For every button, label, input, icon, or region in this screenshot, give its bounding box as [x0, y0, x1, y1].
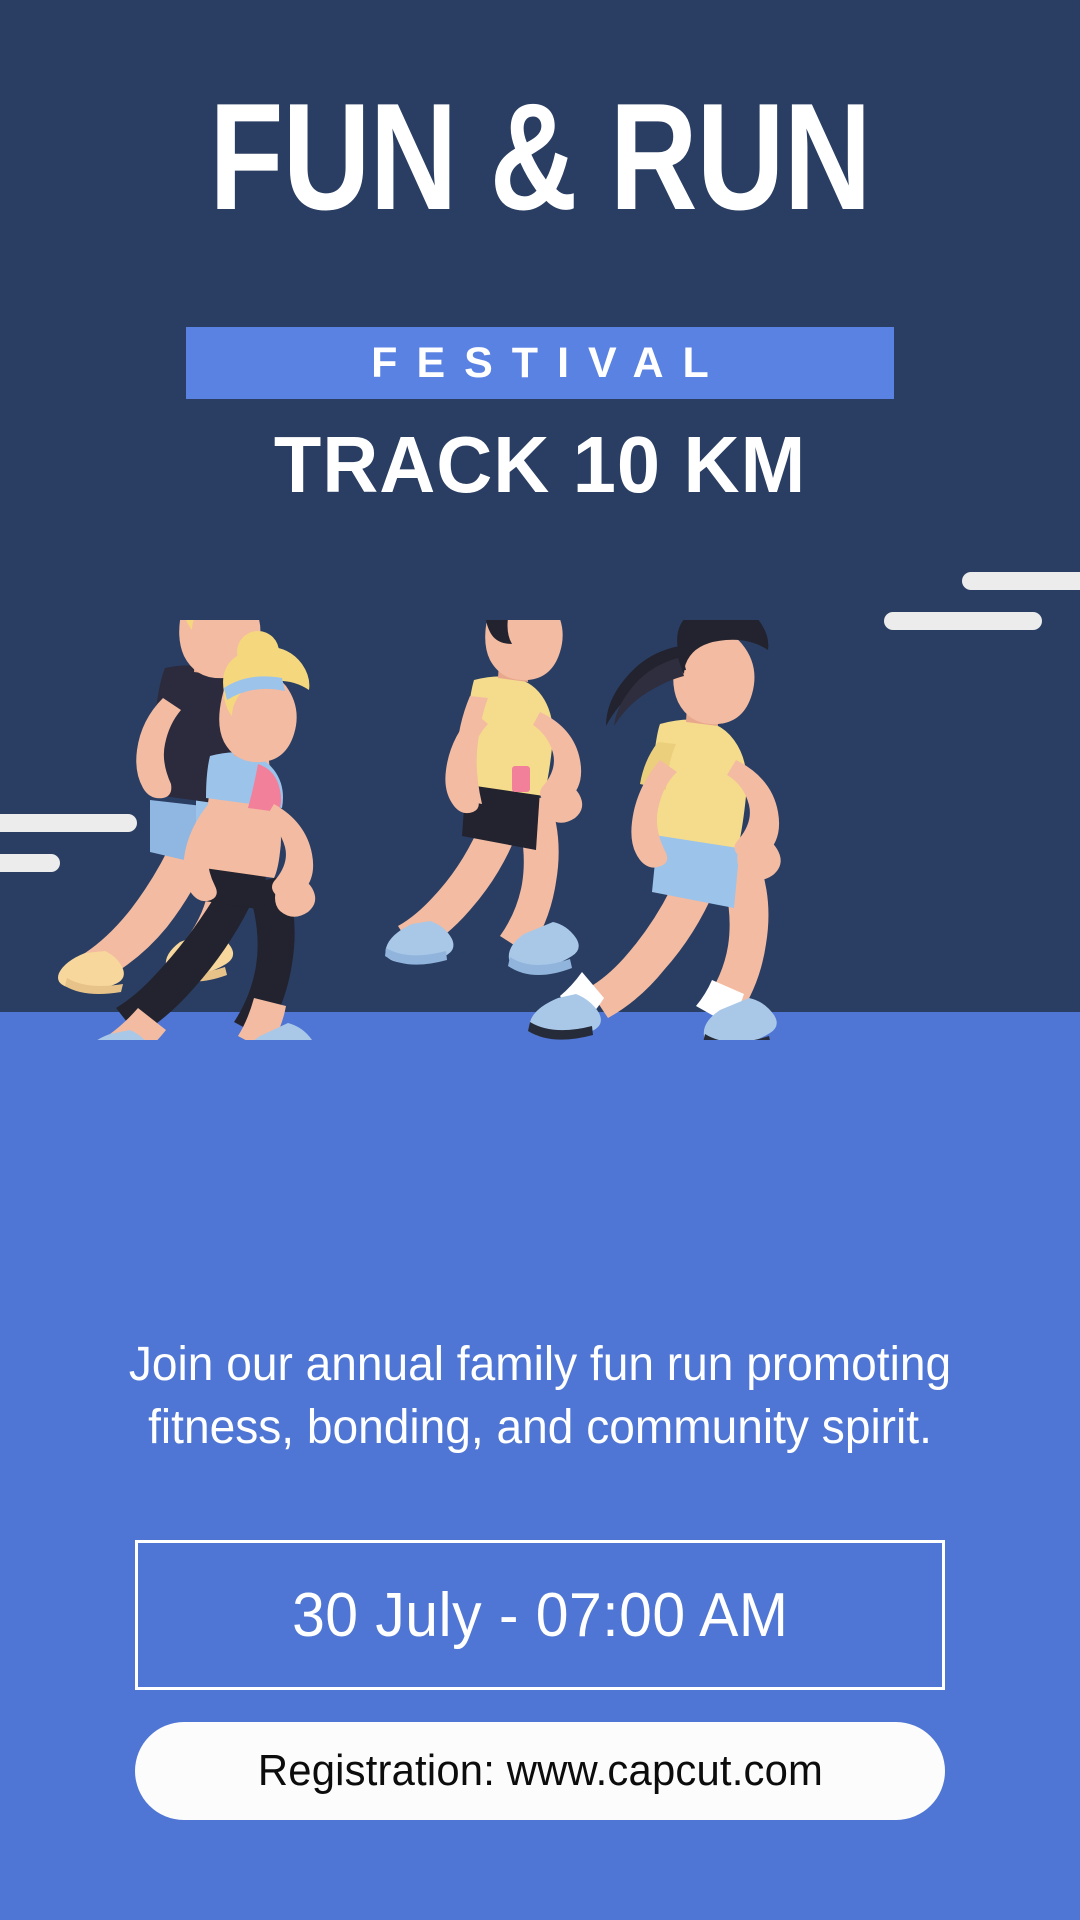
registration-button[interactable]: Registration: www.capcut.com — [135, 1722, 945, 1820]
date-time-box: 30 July - 07:00 AM — [135, 1540, 945, 1690]
runner-3-figure — [385, 620, 598, 975]
track-distance-label: TRACK 10 KM — [16, 425, 1064, 505]
runner-4-figure — [528, 620, 781, 1040]
registration-label: Registration: www.capcut.com — [257, 1746, 822, 1796]
poster-canvas: FUN & RUN FESTIVAL TRACK 10 KM — [0, 0, 1080, 1920]
four-runners-illustration — [0, 620, 1080, 1040]
event-description: Join our annual family fun run promoting… — [108, 1333, 972, 1460]
festival-label: FESTIVAL — [352, 342, 728, 385]
page-title: FUN & RUN — [108, 0, 972, 223]
date-time-label: 30 July - 07:00 AM — [292, 1580, 788, 1651]
headline-block: FUN & RUN — [0, 0, 1080, 223]
festival-band: FESTIVAL — [186, 327, 894, 399]
dash-right-top-decoration — [962, 572, 1080, 590]
